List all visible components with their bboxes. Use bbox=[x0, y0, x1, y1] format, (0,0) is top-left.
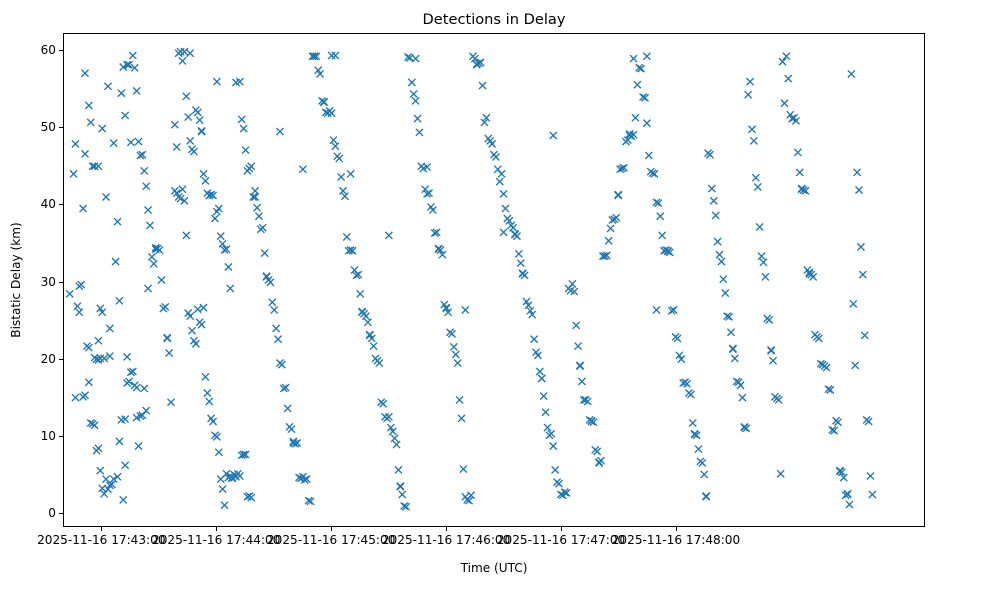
scatter-marker bbox=[133, 384, 140, 391]
scatter-marker bbox=[206, 398, 213, 405]
scatter-marker bbox=[81, 150, 88, 157]
x-tick-mark bbox=[446, 527, 447, 531]
scatter-marker bbox=[741, 423, 748, 430]
scatter-marker bbox=[158, 276, 165, 283]
scatter-marker bbox=[846, 501, 853, 508]
scatter-marker bbox=[708, 185, 715, 192]
scatter-marker bbox=[284, 405, 291, 412]
scatter-marker bbox=[540, 393, 547, 400]
scatter-marker bbox=[689, 419, 696, 426]
scatter-marker bbox=[328, 110, 335, 117]
scatter-marker bbox=[414, 115, 421, 122]
scatter-marker bbox=[288, 426, 295, 433]
chart-title: Detections in Delay bbox=[63, 11, 925, 28]
scatter-marker bbox=[129, 52, 136, 59]
scatter-marker bbox=[146, 222, 153, 229]
scatter-marker bbox=[756, 223, 763, 230]
scatter-marker bbox=[338, 173, 345, 180]
scatter-marker bbox=[167, 399, 174, 406]
scatter-marker bbox=[166, 349, 173, 356]
scatter-marker bbox=[196, 117, 203, 124]
scatter-marker bbox=[834, 419, 841, 426]
scatter-marker bbox=[242, 147, 249, 154]
scatter-marker bbox=[85, 379, 92, 386]
scatter-marker bbox=[605, 237, 612, 244]
scatter-marker bbox=[840, 474, 847, 481]
scatter-marker bbox=[695, 446, 702, 453]
scatter-marker bbox=[179, 186, 186, 193]
scatter-marker bbox=[645, 152, 652, 159]
x-tick-mark bbox=[676, 527, 677, 531]
scatter-marker bbox=[347, 170, 354, 177]
marker-group bbox=[66, 48, 876, 510]
scatter-marker bbox=[253, 204, 260, 211]
scatter-marker bbox=[133, 87, 140, 94]
scatter-marker bbox=[103, 193, 110, 200]
scatter-marker bbox=[213, 78, 220, 85]
scatter-marker bbox=[187, 50, 194, 57]
x-axis-label: Time (UTC) bbox=[63, 561, 925, 575]
scatter-marker bbox=[777, 470, 784, 477]
scatter-marker bbox=[657, 213, 664, 220]
scatter-marker bbox=[542, 409, 549, 416]
scatter-marker bbox=[124, 379, 131, 386]
scatter-marker bbox=[536, 368, 543, 375]
scatter-marker bbox=[141, 385, 148, 392]
scatter-marker bbox=[269, 299, 276, 306]
scatter-marker bbox=[359, 308, 366, 315]
scatter-marker bbox=[118, 90, 125, 97]
scatter-marker bbox=[332, 52, 339, 59]
scatter-marker bbox=[95, 163, 102, 170]
scatter-marker bbox=[99, 125, 106, 132]
y-tick-label: 10 bbox=[12, 429, 56, 443]
scatter-marker bbox=[511, 230, 518, 237]
scatter-marker bbox=[515, 250, 522, 257]
scatter-marker bbox=[760, 259, 767, 266]
x-tick-mark bbox=[561, 527, 562, 531]
scatter-marker bbox=[861, 332, 868, 339]
scatter-marker bbox=[104, 83, 111, 90]
scatter-marker bbox=[215, 449, 222, 456]
scatter-marker bbox=[502, 205, 509, 212]
scatter-marker bbox=[70, 170, 77, 177]
scatter-marker bbox=[198, 127, 205, 134]
scatter-marker bbox=[750, 137, 757, 144]
scatter-marker bbox=[416, 129, 423, 136]
scatter-marker bbox=[850, 300, 857, 307]
scatter-marker bbox=[492, 153, 499, 160]
scatter-marker bbox=[852, 362, 859, 369]
scatter-marker bbox=[204, 389, 211, 396]
scatter-marker bbox=[110, 140, 117, 147]
scatter-marker bbox=[462, 306, 469, 313]
x-tick-label: 2025-11-16 17:48:00 bbox=[612, 533, 740, 547]
scatter-marker bbox=[200, 304, 207, 311]
scatter-marker bbox=[219, 486, 226, 493]
scatter-marker bbox=[498, 170, 505, 177]
scatter-marker bbox=[569, 280, 576, 287]
scatter-marker bbox=[865, 418, 872, 425]
scatter-marker bbox=[716, 251, 723, 258]
scatter-marker bbox=[210, 418, 217, 425]
scatter-marker bbox=[145, 207, 152, 214]
scatter-marker bbox=[718, 258, 725, 265]
scatter-marker bbox=[143, 183, 150, 190]
scatter-marker bbox=[376, 359, 383, 366]
scatter-marker bbox=[794, 149, 801, 156]
scatter-marker bbox=[544, 424, 551, 431]
scatter-marker bbox=[468, 492, 475, 499]
scatter-marker bbox=[391, 435, 398, 442]
scatter-marker bbox=[399, 491, 406, 498]
x-tick-mark bbox=[216, 527, 217, 531]
x-tick-label: 2025-11-16 17:43:00 bbox=[37, 533, 165, 547]
scatter-marker bbox=[145, 285, 152, 292]
scatter-marker bbox=[613, 214, 620, 221]
scatter-marker bbox=[116, 297, 123, 304]
scatter-marker bbox=[240, 125, 247, 132]
scatter-marker bbox=[435, 245, 442, 252]
figure-canvas: Detections in Delay Bistatic Delay (km) … bbox=[0, 0, 987, 590]
scatter-marker bbox=[190, 148, 197, 155]
scatter-marker bbox=[380, 400, 387, 407]
scatter-marker bbox=[752, 174, 759, 181]
scatter-marker bbox=[766, 316, 773, 323]
scatter-marker bbox=[410, 90, 417, 97]
scatter-marker bbox=[127, 139, 134, 146]
scatter-marker bbox=[703, 492, 710, 499]
scatter-marker bbox=[674, 335, 681, 342]
scatter-marker bbox=[74, 303, 81, 310]
scatter-marker bbox=[192, 340, 199, 347]
scatter-marker bbox=[754, 183, 761, 190]
scatter-marker bbox=[710, 197, 717, 204]
scatter-marker bbox=[578, 378, 585, 385]
scatter-marker bbox=[867, 472, 874, 479]
y-tick-label: 50 bbox=[12, 120, 56, 134]
scatter-marker bbox=[385, 413, 392, 420]
scatter-marker bbox=[187, 137, 194, 144]
scatter-marker bbox=[500, 229, 507, 236]
scatter-marker bbox=[187, 313, 194, 320]
scatter-marker bbox=[200, 170, 207, 177]
scatter-marker bbox=[221, 502, 228, 509]
scatter-marker bbox=[630, 55, 637, 62]
scatter-marker bbox=[634, 81, 641, 88]
x-tick-mark bbox=[331, 527, 332, 531]
scatter-marker bbox=[202, 177, 209, 184]
scatter-marker bbox=[114, 218, 121, 225]
scatter-marker bbox=[517, 260, 524, 267]
scatter-marker bbox=[164, 335, 171, 342]
scatter-marker bbox=[215, 205, 222, 212]
scatter-marker bbox=[869, 491, 876, 498]
scatter-marker bbox=[278, 361, 285, 368]
scatter-marker bbox=[714, 238, 721, 245]
scatter-marker bbox=[116, 438, 123, 445]
scatter-marker bbox=[227, 285, 234, 292]
x-tick-label: 2025-11-16 17:46:00 bbox=[382, 533, 510, 547]
x-tick-mark bbox=[101, 527, 102, 531]
scatter-marker bbox=[148, 253, 155, 260]
scatter-marker bbox=[189, 327, 196, 334]
scatter-marker bbox=[181, 197, 188, 204]
scatter-marker bbox=[72, 140, 79, 147]
scatter-marker bbox=[408, 79, 415, 86]
scatter-marker bbox=[706, 151, 713, 158]
scatter-marker bbox=[81, 70, 88, 77]
scatter-marker bbox=[271, 306, 278, 313]
scatter-marker bbox=[179, 57, 186, 64]
scatter-marker bbox=[261, 250, 268, 257]
scatter-marker bbox=[729, 346, 736, 353]
scatter-marker bbox=[370, 343, 377, 350]
scatter-marker bbox=[859, 271, 866, 278]
scatter-marker bbox=[429, 207, 436, 214]
scatter-marker bbox=[87, 119, 94, 126]
scatter-marker bbox=[643, 53, 650, 60]
scatter-marker bbox=[103, 476, 110, 483]
scatter-marker bbox=[252, 187, 259, 194]
scatter-marker bbox=[101, 490, 108, 497]
scatter-marker bbox=[122, 462, 129, 469]
scatter-marker bbox=[712, 212, 719, 219]
scatter-marker bbox=[66, 290, 73, 297]
scatter-marker bbox=[792, 117, 799, 124]
scatter-marker bbox=[823, 364, 830, 371]
scatter-marker bbox=[106, 325, 113, 332]
scatter-marker bbox=[412, 55, 419, 62]
scatter-marker bbox=[769, 357, 776, 364]
scatter-marker bbox=[538, 375, 545, 382]
scatter-marker bbox=[798, 185, 805, 192]
scatter-marker bbox=[594, 448, 601, 455]
scatter-marker bbox=[259, 224, 266, 231]
scatter-marker bbox=[150, 260, 157, 267]
scatter-marker bbox=[745, 91, 752, 98]
scatter-marker bbox=[454, 359, 461, 366]
scatter-marker bbox=[720, 276, 727, 283]
scatter-marker bbox=[76, 309, 83, 316]
scatter-marker bbox=[330, 137, 337, 144]
scatter-marker bbox=[385, 232, 392, 239]
scatter-marker bbox=[500, 190, 507, 197]
scatter-marker bbox=[659, 232, 666, 239]
x-tick-label: 2025-11-16 17:45:00 bbox=[267, 533, 395, 547]
scatter-marker bbox=[479, 82, 486, 89]
y-tick-label: 20 bbox=[12, 352, 56, 366]
scatter-marker bbox=[699, 459, 706, 466]
scatter-marker bbox=[687, 391, 694, 398]
scatter-marker bbox=[238, 116, 245, 123]
y-tick-label: 0 bbox=[12, 506, 56, 520]
scatter-marker bbox=[357, 290, 364, 297]
scatter-marker bbox=[135, 443, 142, 450]
scatter-marker bbox=[768, 347, 775, 354]
scatter-marker bbox=[796, 169, 803, 176]
scatter-marker bbox=[653, 306, 660, 313]
scatter-marker bbox=[141, 167, 148, 174]
scatter-marker bbox=[531, 336, 538, 343]
scatter-marker bbox=[781, 100, 788, 107]
scatter-marker bbox=[552, 466, 559, 473]
scatter-marker bbox=[328, 52, 335, 59]
scatter-marker bbox=[739, 394, 746, 401]
scatter-marker bbox=[114, 473, 121, 480]
scatter-marker bbox=[99, 485, 106, 492]
scatter-marker bbox=[576, 362, 583, 369]
scatter-marker bbox=[181, 48, 188, 55]
scatter-marker bbox=[341, 193, 348, 200]
scatter-marker bbox=[225, 263, 232, 270]
scatter-marker bbox=[194, 109, 201, 116]
x-tick-label: 2025-11-16 17:44:00 bbox=[152, 533, 280, 547]
scatter-marker bbox=[450, 343, 457, 350]
scatter-marker bbox=[364, 319, 371, 326]
scatter-series bbox=[64, 34, 924, 526]
scatter-marker bbox=[273, 325, 280, 332]
scatter-marker bbox=[785, 75, 792, 82]
scatter-marker bbox=[135, 138, 142, 145]
scatter-marker bbox=[120, 496, 127, 503]
scatter-marker bbox=[747, 78, 754, 85]
scatter-marker bbox=[95, 337, 102, 344]
scatter-marker bbox=[555, 480, 562, 487]
scatter-marker bbox=[85, 102, 92, 109]
scatter-marker bbox=[857, 243, 864, 250]
scatter-marker bbox=[110, 476, 117, 483]
scatter-marker bbox=[80, 205, 87, 212]
scatter-marker bbox=[211, 215, 218, 222]
scatter-marker bbox=[452, 351, 459, 358]
scatter-marker bbox=[412, 97, 419, 104]
scatter-marker bbox=[198, 321, 205, 328]
scatter-marker bbox=[748, 126, 755, 133]
scatter-marker bbox=[615, 192, 622, 199]
scatter-marker bbox=[534, 352, 541, 359]
scatter-marker bbox=[701, 471, 708, 478]
scatter-marker bbox=[124, 353, 131, 360]
scatter-marker bbox=[76, 283, 83, 290]
scatter-marker bbox=[855, 187, 862, 194]
scatter-marker bbox=[255, 213, 262, 220]
scatter-marker bbox=[775, 396, 782, 403]
scatter-marker bbox=[393, 441, 400, 448]
scatter-marker bbox=[854, 169, 861, 176]
scatter-marker bbox=[112, 258, 119, 265]
scatter-marker bbox=[737, 382, 744, 389]
x-tick-label: 2025-11-16 17:47:00 bbox=[497, 533, 625, 547]
plot-area[interactable] bbox=[63, 33, 925, 527]
scatter-marker bbox=[183, 93, 190, 100]
scatter-marker bbox=[173, 143, 180, 150]
scatter-marker bbox=[122, 112, 129, 119]
scatter-marker bbox=[519, 270, 526, 277]
scatter-marker bbox=[643, 120, 650, 127]
scatter-marker bbox=[248, 163, 255, 170]
scatter-marker bbox=[596, 459, 603, 466]
scatter-marker bbox=[162, 303, 169, 310]
scatter-marker bbox=[202, 373, 209, 380]
scatter-marker bbox=[339, 187, 346, 194]
scatter-marker bbox=[177, 48, 184, 55]
scatter-marker bbox=[758, 253, 765, 260]
scatter-marker bbox=[632, 114, 639, 121]
scatter-marker bbox=[607, 225, 614, 232]
scatter-marker bbox=[458, 415, 465, 422]
scatter-marker bbox=[171, 121, 178, 128]
scatter-marker bbox=[185, 113, 192, 120]
scatter-marker bbox=[217, 233, 224, 240]
scatter-marker bbox=[299, 166, 306, 173]
scatter-marker bbox=[320, 99, 327, 106]
scatter-marker bbox=[332, 143, 339, 150]
scatter-marker bbox=[275, 336, 282, 343]
scatter-marker bbox=[336, 155, 343, 162]
scatter-marker bbox=[727, 329, 734, 336]
scatter-marker bbox=[213, 433, 220, 440]
scatter-marker bbox=[85, 344, 92, 351]
scatter-marker bbox=[815, 335, 822, 342]
scatter-marker bbox=[848, 70, 855, 77]
scatter-marker bbox=[510, 224, 517, 231]
scatter-marker bbox=[456, 396, 463, 403]
scatter-marker bbox=[343, 233, 350, 240]
scatter-marker bbox=[573, 322, 580, 329]
scatter-marker bbox=[91, 354, 98, 361]
y-tick-label: 60 bbox=[12, 43, 56, 57]
scatter-marker bbox=[95, 445, 102, 452]
scatter-marker bbox=[194, 306, 201, 313]
scatter-marker bbox=[448, 330, 455, 337]
scatter-marker bbox=[183, 232, 190, 239]
scatter-marker bbox=[548, 430, 555, 437]
scatter-marker bbox=[72, 394, 79, 401]
scatter-marker bbox=[575, 343, 582, 350]
scatter-marker bbox=[397, 482, 404, 489]
scatter-marker bbox=[731, 355, 738, 362]
y-tick-label: 30 bbox=[12, 275, 56, 289]
scatter-marker bbox=[395, 466, 402, 473]
scatter-marker bbox=[550, 132, 557, 139]
scatter-marker bbox=[81, 392, 88, 399]
scatter-marker bbox=[762, 273, 769, 280]
scatter-marker bbox=[722, 290, 729, 297]
y-tick-label: 40 bbox=[12, 197, 56, 211]
scatter-marker bbox=[276, 128, 283, 135]
scatter-marker bbox=[97, 467, 104, 474]
scatter-marker bbox=[496, 178, 503, 185]
scatter-marker bbox=[460, 466, 467, 473]
scatter-marker bbox=[550, 443, 557, 450]
